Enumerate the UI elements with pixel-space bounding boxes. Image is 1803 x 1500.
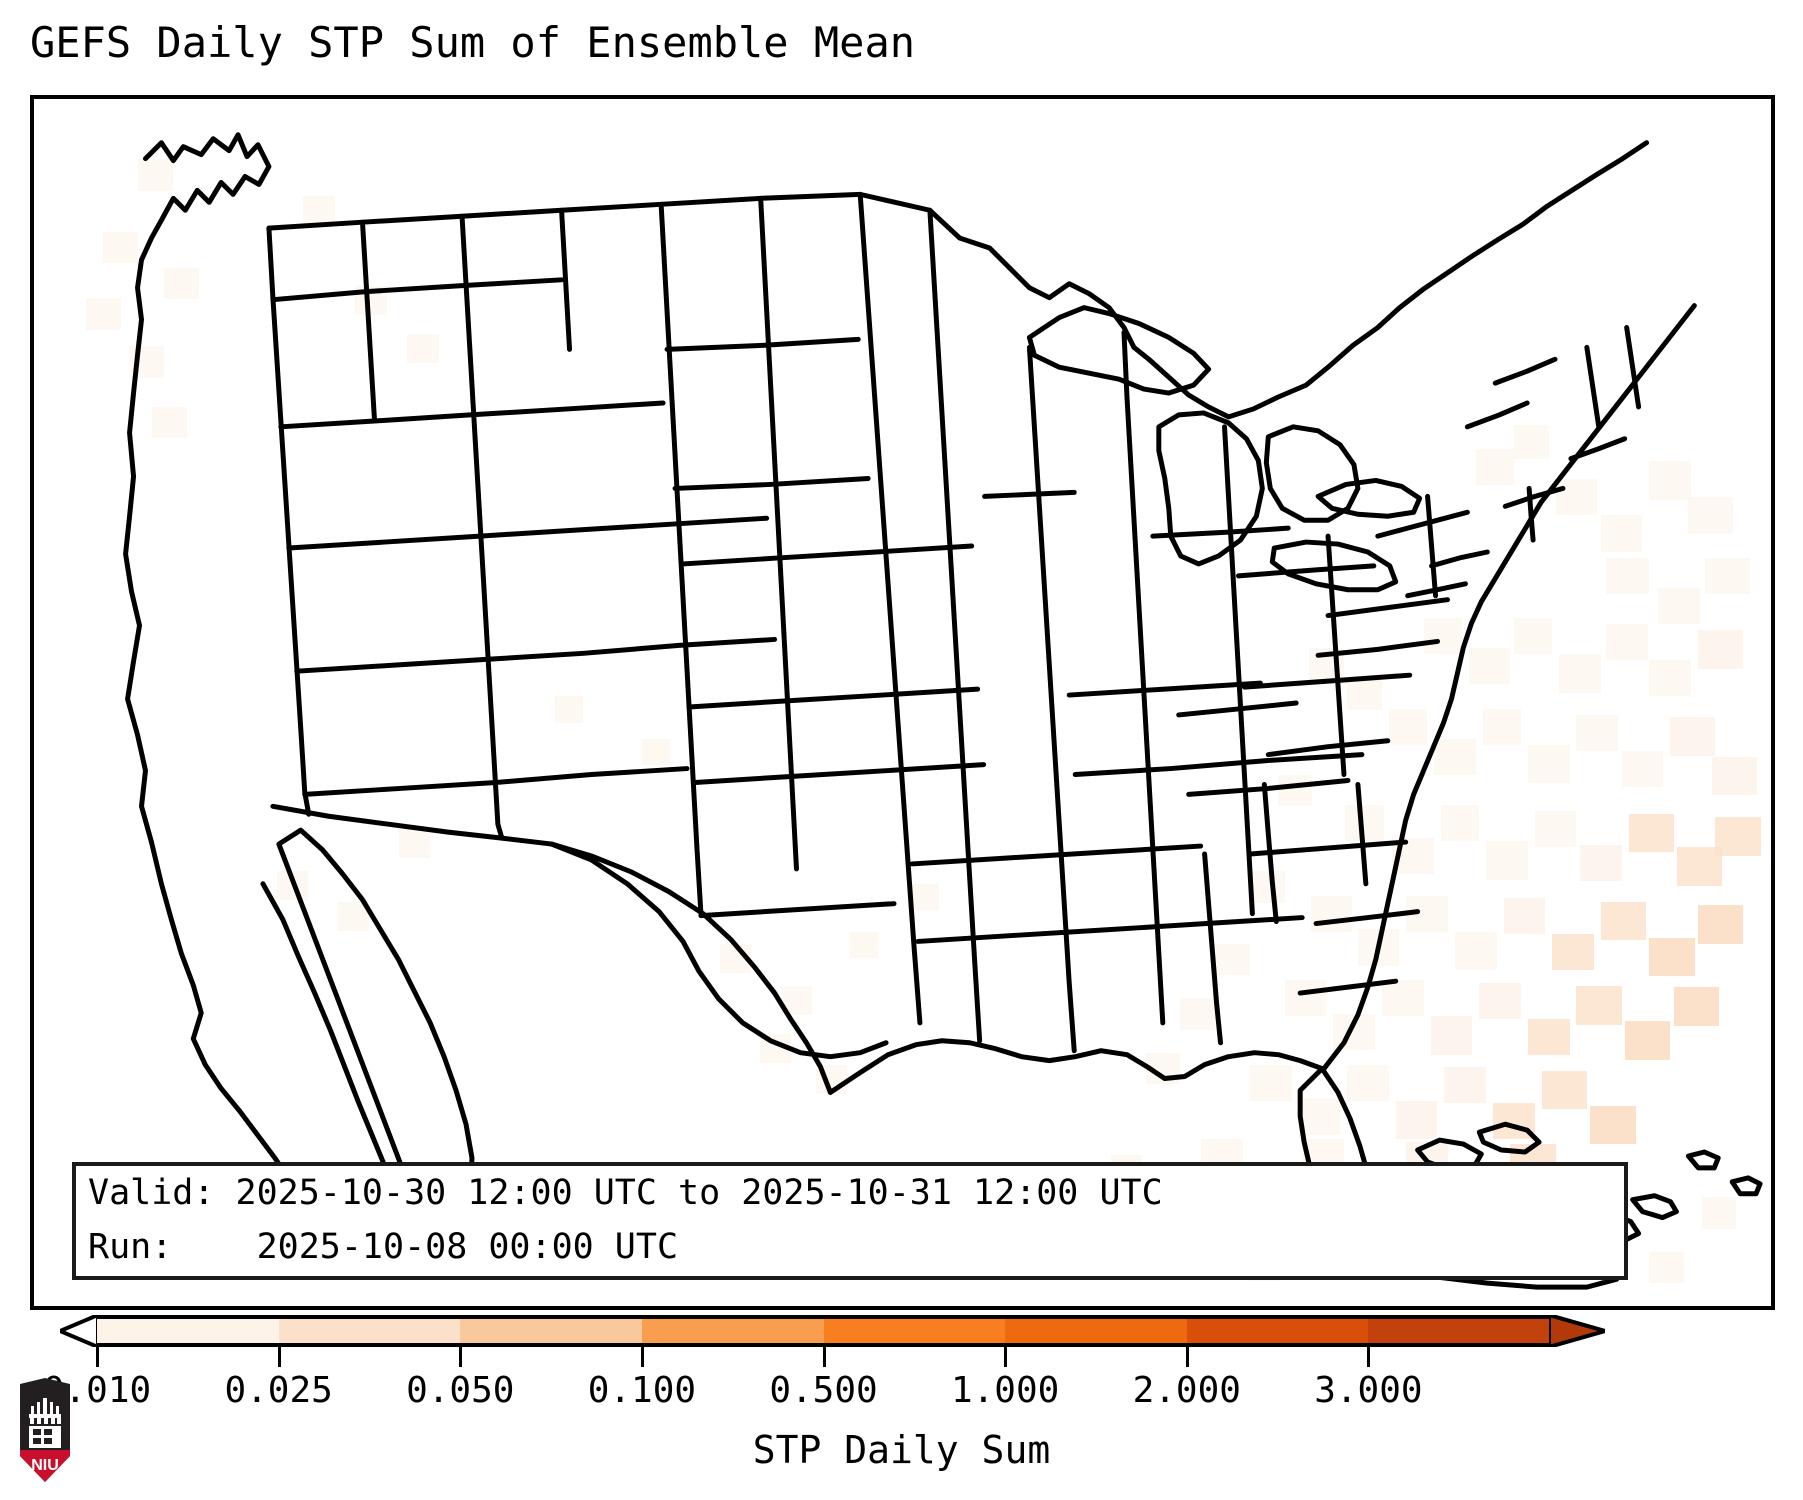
colorbar-tick-3: [641, 1347, 644, 1367]
page-title: GEFS Daily STP Sum of Ensemble Mean: [30, 18, 915, 67]
niu-logo: NIU: [16, 1378, 74, 1486]
map-panel: Valid: 2025-10-30 12:00 UTC to 2025-10-3…: [30, 95, 1775, 1310]
niu-logo-text: NIU: [31, 1457, 59, 1474]
colorbar-tick-7: [1367, 1347, 1370, 1367]
forecast-info-box: Valid: 2025-10-30 12:00 UTC to 2025-10-3…: [72, 1162, 1628, 1280]
valid-time-line: Valid: 2025-10-30 12:00 UTC to 2025-10-3…: [76, 1166, 1624, 1220]
colorbar-tick-label-7: 3.000: [1314, 1370, 1422, 1411]
colorbar-tick-label-2: 0.050: [406, 1370, 514, 1411]
colorbar-tick-label-6: 2.000: [1133, 1370, 1241, 1411]
colorbar-segment-3: [642, 1319, 824, 1343]
colorbar-tick-0: [96, 1347, 99, 1367]
colorbar-segment-6: [1187, 1319, 1369, 1343]
colorbar-segment-1: [279, 1319, 461, 1343]
conus-basemap: [34, 99, 1771, 1306]
colorbar-axis-label: STP Daily Sum: [0, 1428, 1803, 1472]
colorbar-tick-4: [823, 1347, 826, 1367]
colorbar-over-arrow: [1549, 1315, 1605, 1347]
colorbar-segment-4: [824, 1319, 1006, 1343]
colorbar-segment-2: [460, 1319, 642, 1343]
colorbar-segment-0: [97, 1319, 279, 1343]
colorbar-segment-5: [1005, 1319, 1187, 1343]
colorbar-tick-1: [278, 1347, 281, 1367]
colorbar-tick-2: [459, 1347, 462, 1367]
colorbar-under-arrow: [60, 1315, 98, 1347]
colorbar-segments: [97, 1315, 1550, 1347]
colorbar-tick-label-4: 0.500: [769, 1370, 877, 1411]
colorbar-tick-label-1: 0.025: [224, 1370, 332, 1411]
colorbar: 0.0100.0250.0500.1000.5001.0002.0003.000…: [0, 1310, 1803, 1500]
run-time-line: Run: 2025-10-08 00:00 UTC: [76, 1220, 1624, 1274]
colorbar-tick-label-3: 0.100: [588, 1370, 696, 1411]
colorbar-tick-label-5: 1.000: [951, 1370, 1059, 1411]
colorbar-segment-7: [1368, 1319, 1550, 1343]
colorbar-tick-5: [1004, 1347, 1007, 1367]
colorbar-tick-6: [1186, 1347, 1189, 1367]
